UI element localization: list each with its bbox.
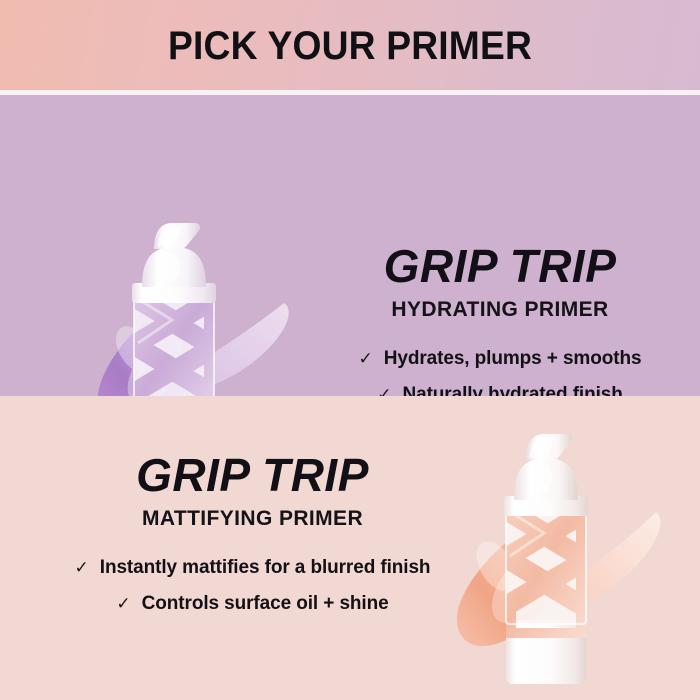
check-icon: ✓ (75, 559, 89, 576)
product-image-mattifying (418, 406, 668, 692)
header-banner: PICK YOUR PRIMER (0, 0, 700, 93)
page-title: PICK YOUR PRIMER (25, 0, 676, 93)
text-block-hydrating: GRIP TRIP HYDRATING PRIMER ✓ Hydrates, p… (300, 243, 700, 396)
check-icon: ✓ (116, 595, 130, 612)
benefit-item: ✓ Hydrates, plumps + smooths (300, 348, 700, 370)
benefit-item: ✓ Naturally hydrated finish (300, 384, 700, 396)
benefit-label: Hydrates, plumps + smooths (384, 348, 642, 370)
benefit-label: Instantly mattifies for a blurred finish (100, 557, 431, 579)
product-name-hydrating: GRIP TRIP (300, 243, 700, 289)
benefit-label: Naturally hydrated finish (402, 384, 622, 396)
benefit-list-hydrating: ✓ Hydrates, plumps + smooths ✓ Naturally… (300, 348, 700, 396)
benefit-label: Controls surface oil + shine (142, 593, 389, 615)
check-icon: ✓ (377, 386, 391, 396)
check-icon: ✓ (359, 350, 373, 367)
product-image-hydrating (72, 199, 312, 396)
promo-graphic: PICK YOUR PRIMER (0, 0, 700, 700)
product-subtitle-hydrating: HYDRATING PRIMER (300, 298, 700, 322)
section-hydrating: GRIP TRIP HYDRATING PRIMER ✓ Hydrates, p… (0, 95, 700, 396)
